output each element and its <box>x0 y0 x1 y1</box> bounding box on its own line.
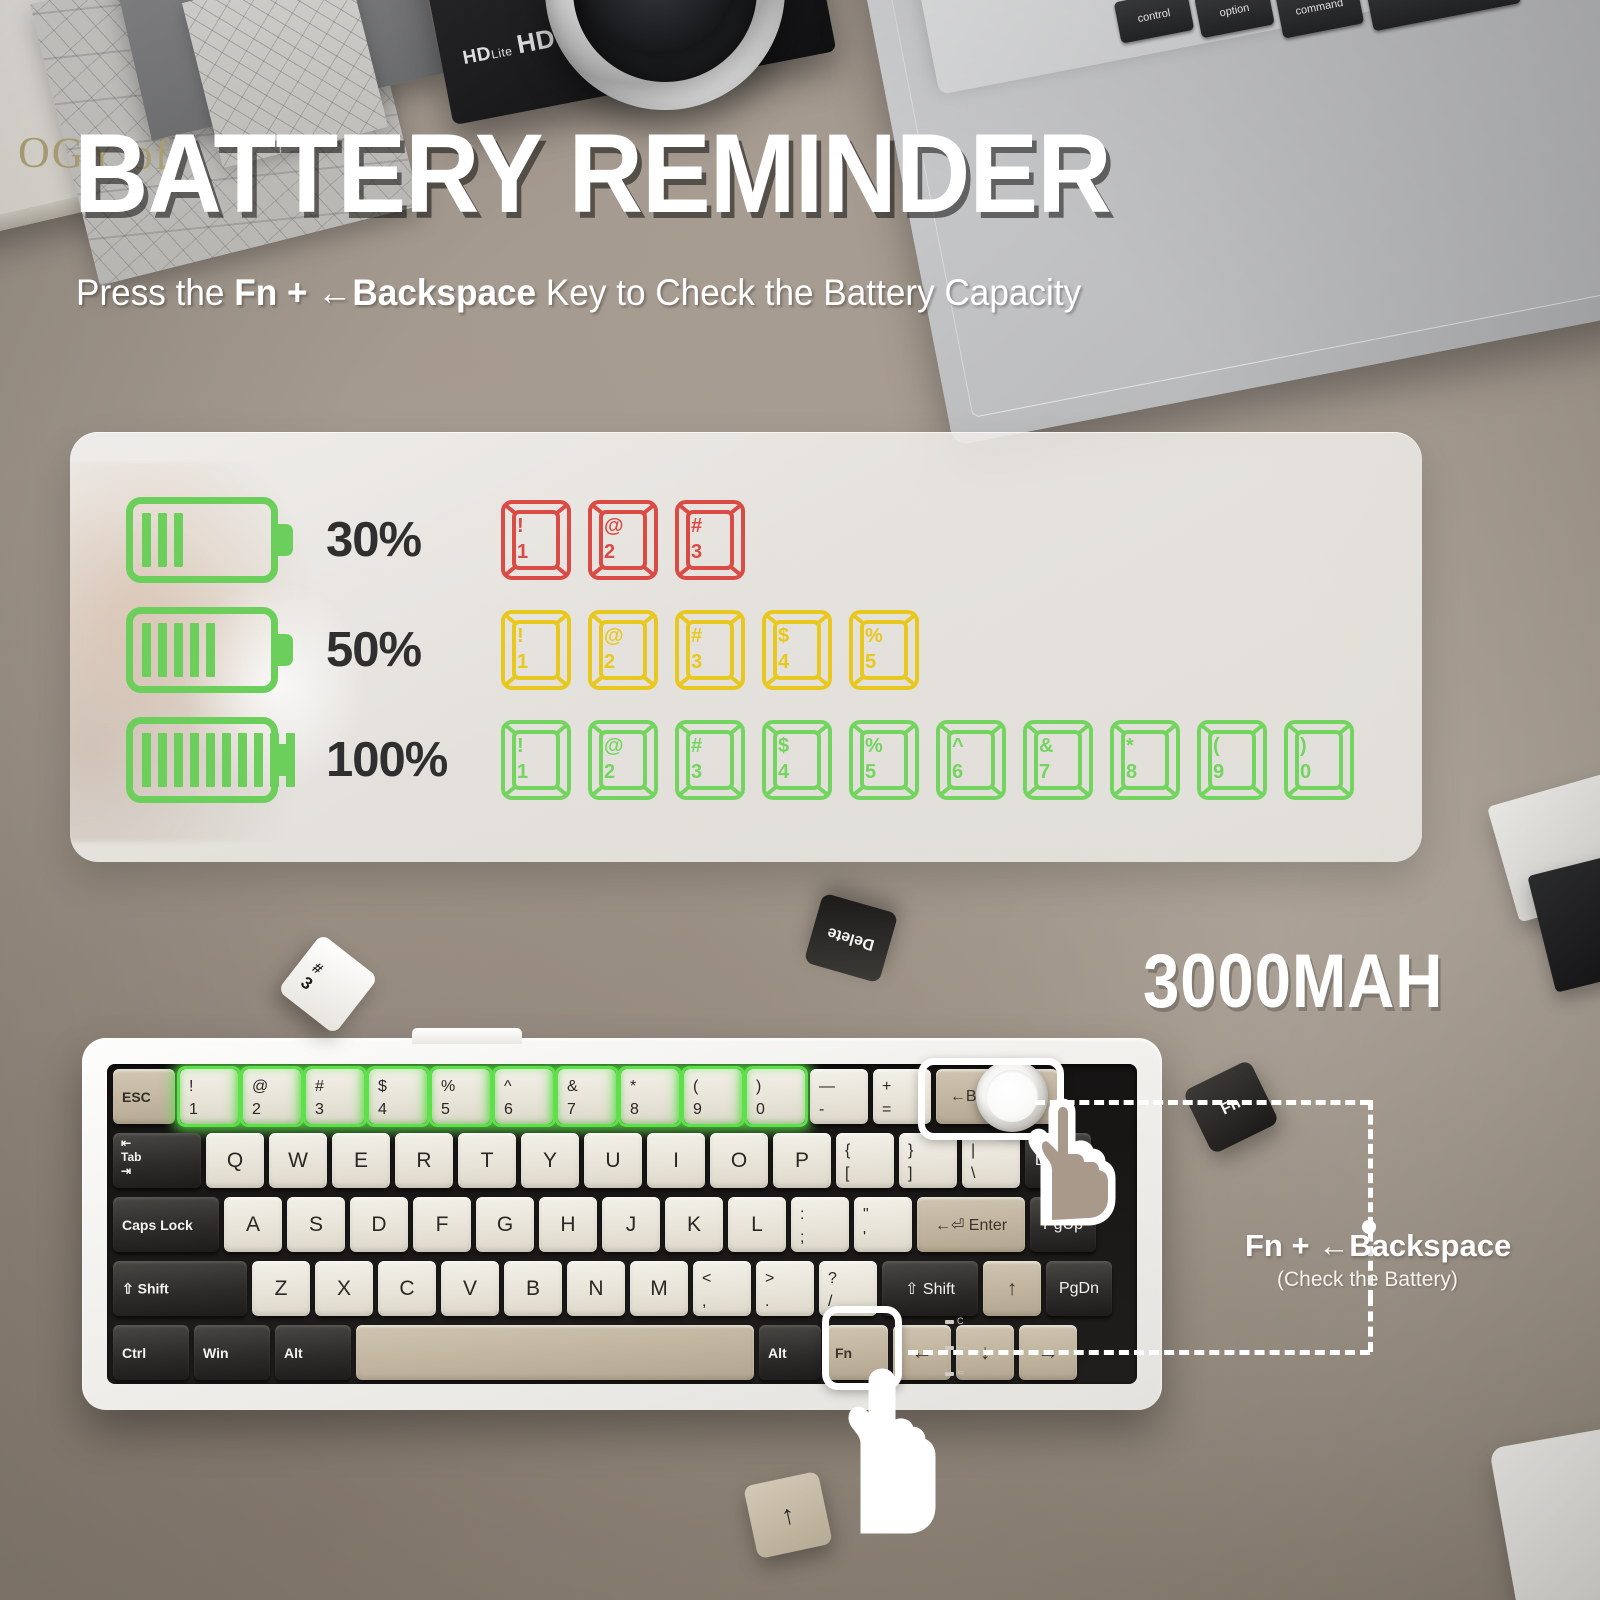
keyboard-row-qwerty-row: ⇤Tab⇥QWERTYUIOP { [ } ] | \Delete <box>107 1130 1137 1192</box>
legend-keycap-2: @ 2 <box>587 499 659 581</box>
battery-icon <box>126 497 306 583</box>
legend-keycap-5: % 5 <box>848 719 920 801</box>
key-shift[interactable]: ⇧ Shift <box>882 1261 978 1316</box>
key-z[interactable]: Z <box>252 1261 310 1316</box>
key-ctrl[interactable]: Ctrl <box>113 1325 189 1380</box>
legend-keycap-label: ! 1 <box>517 624 528 675</box>
key-spacebar[interactable]: " ' <box>854 1197 912 1252</box>
key-legend: J <box>602 1197 660 1252</box>
key-e[interactable]: E <box>332 1133 390 1188</box>
key-m[interactable]: M <box>630 1261 688 1316</box>
key-legend: T <box>458 1133 516 1188</box>
legend-keycap-3: # 3 <box>674 499 746 581</box>
legend-keycap-bottom: 3 <box>691 760 702 786</box>
key-legend: V <box>441 1261 499 1316</box>
battery-legend-panel: 30% ! 1 @ 2 # 3 <box>70 432 1422 862</box>
key-legend: Fn <box>835 1345 852 1361</box>
key-legend: ? / <box>828 1267 837 1313</box>
legend-keycap-top: ) <box>1300 734 1311 760</box>
key-legend: # 3 <box>315 1075 324 1121</box>
battery-outline <box>126 607 278 693</box>
key-legend: PgDn <box>1046 1261 1112 1316</box>
battery-bar <box>190 733 199 787</box>
key-pgdn[interactable]: PgDn <box>1046 1261 1112 1316</box>
key-legend: + = <box>882 1075 891 1121</box>
battery-bar <box>174 513 183 567</box>
legend-keycap-8: * 8 <box>1109 719 1181 801</box>
key-t[interactable]: T <box>458 1133 516 1188</box>
battery-legend-row: 100% ! 1 @ 2 # 3 <box>70 700 1422 820</box>
key-legend: | \ <box>971 1139 975 1185</box>
battery-bar <box>174 623 183 677</box>
key-alt[interactable]: Alt <box>275 1325 351 1380</box>
key-legend: E <box>332 1133 390 1188</box>
legend-keycap-top: # <box>691 734 702 760</box>
legend-keycap-bottom: 7 <box>1039 760 1053 786</box>
key-legend: ⇧ Shift <box>122 1280 169 1297</box>
key-tab[interactable]: ⇤Tab⇥ <box>113 1133 201 1188</box>
legend-keycap-4: $ 4 <box>761 719 833 801</box>
key-legend: ) 0 <box>756 1075 765 1121</box>
legend-keycap-top: @ <box>604 734 624 760</box>
key-legend-top: | <box>971 1139 975 1162</box>
key-legend: P <box>773 1133 831 1188</box>
battery-bar <box>206 623 215 677</box>
battery-percent-label: 100% <box>326 732 447 788</box>
key-g[interactable]: G <box>476 1197 534 1252</box>
legend-keycap-label: $ 4 <box>778 734 789 785</box>
legend-keycap-label: @ 2 <box>604 624 624 675</box>
legend-keycap-bottom: 1 <box>517 650 528 676</box>
legend-keycap-bottom: 6 <box>952 760 964 786</box>
key-legend: L <box>728 1197 786 1252</box>
key-9[interactable]: ( 9 <box>684 1069 742 1124</box>
key-legend-bottom: ' <box>863 1226 869 1249</box>
key-legend-bottom: 7 <box>567 1098 578 1121</box>
battery-fill-bars <box>142 513 183 567</box>
legend-keycap-top: @ <box>604 514 624 540</box>
keyboard-top-bump <box>412 1028 522 1044</box>
legend-keycap-label: @ 2 <box>604 734 624 785</box>
legend-keycap-top: % <box>865 624 883 650</box>
key-legend-top: + <box>882 1075 891 1098</box>
key-legend: ! 1 <box>189 1075 198 1121</box>
key-6[interactable]: ^ 6 <box>495 1069 553 1124</box>
legend-keycap-4: $ 4 <box>761 609 833 691</box>
battery-outline <box>126 497 278 583</box>
key-f[interactable]: F <box>413 1197 471 1252</box>
battery-icon <box>126 607 306 693</box>
key-legend-top: } <box>908 1139 913 1162</box>
key-spacebar[interactable]: ↑ <box>983 1261 1041 1316</box>
key-legend: S <box>287 1197 345 1252</box>
key-caps-lock[interactable]: Caps Lock <box>113 1197 219 1252</box>
battery-percent-label: 30% <box>326 512 421 568</box>
key-legend: W <box>269 1133 327 1188</box>
key-legend-bottom: 4 <box>378 1098 387 1121</box>
key-legend: I <box>647 1133 705 1188</box>
key-3[interactable]: # 3 <box>306 1069 364 1124</box>
key-k[interactable]: K <box>665 1197 723 1252</box>
legend-keycap-bottom: 5 <box>865 650 883 676</box>
legend-keycap-bottom: 4 <box>778 760 789 786</box>
key-1[interactable]: ! 1 <box>180 1069 238 1124</box>
key-legend: < , <box>702 1267 711 1313</box>
legend-keycap-label: ^ 6 <box>952 734 964 785</box>
floating-keycap-arrow-up: ↑ <box>743 1471 833 1559</box>
key-legend: Caps Lock <box>122 1217 193 1233</box>
key-legend: @ 2 <box>252 1075 268 1121</box>
legend-keycap-0: ) 0 <box>1283 719 1355 801</box>
legend-keycap-top: ! <box>517 734 528 760</box>
key-legend-bottom: 8 <box>630 1098 639 1121</box>
battery-bar <box>254 733 263 787</box>
key-legend-top: $ <box>378 1075 387 1098</box>
legend-keycap-top: # <box>691 624 702 650</box>
key-legend: — - <box>819 1075 835 1121</box>
battery-bar <box>206 733 215 787</box>
key-legend-top: ! <box>189 1075 198 1098</box>
hand-cursor-fn-icon <box>820 1366 940 1536</box>
battery-bar <box>142 733 151 787</box>
key-l[interactable]: L <box>728 1197 786 1252</box>
key-legend: ESC <box>122 1089 151 1105</box>
keyboard-row-bottom-letter-row: ⇧ ShiftZXCVBNM < , > . ? /⇧ Shift↑PgDn <box>107 1258 1137 1320</box>
key-legend: K <box>665 1197 723 1252</box>
key-legend: F <box>413 1197 471 1252</box>
key-legend-bottom: 3 <box>315 1098 324 1121</box>
capacity-badge: 3000MAH <box>1143 938 1443 1025</box>
key-5[interactable]: % 5 <box>432 1069 490 1124</box>
key-legend: Alt <box>768 1345 787 1361</box>
key-b[interactable]: B <box>504 1261 562 1316</box>
key-w[interactable]: W <box>269 1133 327 1188</box>
key-legend-bottom: 1 <box>189 1098 198 1121</box>
legend-keycap-3: # 3 <box>674 609 746 691</box>
battery-bar <box>142 623 151 677</box>
key-legend-bottom: . <box>765 1290 774 1313</box>
key-legend: G <box>476 1197 534 1252</box>
key-legend-top: " <box>863 1203 869 1226</box>
keyboard-row-home-row: Caps LockASDFGHJKL : ; " '←⏎ EnterPgUp <box>107 1194 1137 1256</box>
key-legend-bottom: 9 <box>693 1098 702 1121</box>
legend-keycap-2: @ 2 <box>587 609 659 691</box>
legend-keycap-9: ( 9 <box>1196 719 1268 801</box>
key-legend-bottom: / <box>828 1290 837 1313</box>
legend-keycap-label: @ 2 <box>604 514 624 565</box>
battery-level-keycaps: ! 1 @ 2 # 3 <box>500 609 920 691</box>
key-legend: R <box>395 1133 453 1188</box>
legend-keycap-bottom: 9 <box>1213 760 1224 786</box>
key-legend: : ; <box>800 1203 804 1249</box>
key-legend: ↑ <box>983 1261 1041 1316</box>
legend-keycap-top: $ <box>778 624 789 650</box>
battery-fill-bars <box>142 733 295 787</box>
battery-rows: 30% ! 1 @ 2 # 3 <box>70 432 1422 862</box>
legend-keycap-7: & 7 <box>1022 719 1094 801</box>
legend-keycap-label: # 3 <box>691 514 702 565</box>
key-spacebar[interactable]: } ] <box>899 1133 957 1188</box>
key-legend-bottom: = <box>882 1098 891 1121</box>
key-legend: ⇤Tab⇥ <box>121 1137 141 1178</box>
key-legend: H <box>539 1197 597 1252</box>
legend-keycap-bottom: 1 <box>517 760 528 786</box>
legend-keycap-bottom: 1 <box>517 540 528 566</box>
battery-terminal <box>277 634 293 666</box>
key-legend: ⇧ Shift <box>882 1261 978 1316</box>
callout-title: Fn + ←Backspace <box>1245 1228 1511 1264</box>
battery-level-keycaps: ! 1 @ 2 # 3 <box>500 499 746 581</box>
key-legend-top: ? <box>828 1267 837 1290</box>
legend-keycap-top: $ <box>778 734 789 760</box>
legend-keycap-bottom: 3 <box>691 650 702 676</box>
subtitle-prefix: Press the <box>76 272 234 313</box>
legend-keycap-label: & 7 <box>1039 734 1053 785</box>
key-legend: O <box>710 1133 768 1188</box>
legend-keycap-label: % 5 <box>865 624 883 675</box>
legend-keycap-top: # <box>691 514 702 540</box>
key-legend-bottom: ] <box>908 1162 913 1185</box>
key-spacebar[interactable]: — - <box>810 1069 868 1124</box>
legend-keycap-top: ( <box>1213 734 1224 760</box>
indicator-label-3: ᄃ <box>957 1368 965 1381</box>
key-legend: Z <box>252 1261 310 1316</box>
key-2[interactable]: @ 2 <box>243 1069 301 1124</box>
legend-keycap-label: % 5 <box>865 734 883 785</box>
dashed-line-backspace <box>1035 1100 1370 1105</box>
legend-keycap-top: ^ <box>952 734 964 760</box>
legend-keycap-top: * <box>1126 734 1137 760</box>
legend-keycap-top: ! <box>517 624 528 650</box>
legend-keycap-1: ! 1 <box>500 499 572 581</box>
battery-bar <box>142 513 151 567</box>
key-legend: U <box>584 1133 642 1188</box>
battery-fill-bars <box>142 623 215 677</box>
legend-keycap-bottom: 2 <box>604 760 624 786</box>
legend-keycap-bottom: 5 <box>865 760 883 786</box>
key-n[interactable]: N <box>567 1261 625 1316</box>
key-legend: > . <box>765 1267 774 1313</box>
key-4[interactable]: $ 4 <box>369 1069 427 1124</box>
key-spacebar[interactable]: > . <box>756 1261 814 1316</box>
key-7[interactable]: & 7 <box>558 1069 616 1124</box>
legend-keycap-label: # 3 <box>691 734 702 785</box>
page-subtitle: Press the Fn + ←Backspace Key to Check t… <box>76 272 1081 314</box>
legend-keycap-label: ! 1 <box>517 514 528 565</box>
key-p[interactable]: P <box>773 1133 831 1188</box>
key-legend: { [ <box>845 1139 850 1185</box>
key-legend: " ' <box>863 1203 869 1249</box>
key-legend: Y <box>521 1133 579 1188</box>
key-legend-bottom: 5 <box>441 1098 455 1121</box>
key-legend: & 7 <box>567 1075 578 1121</box>
key-legend: % 5 <box>441 1075 455 1121</box>
page-title: BATTERY REMINDER <box>74 118 1111 230</box>
key-legend: B <box>504 1261 562 1316</box>
key-legend: Alt <box>284 1345 303 1361</box>
key-v[interactable]: V <box>441 1261 499 1316</box>
key-legend-bottom: 6 <box>504 1098 513 1121</box>
key-legend-top: ^ <box>504 1075 513 1098</box>
legend-keycap-bottom: 2 <box>604 650 624 676</box>
key-spacebar[interactable]: + = <box>873 1069 931 1124</box>
key-a[interactable]: A <box>224 1197 282 1252</box>
legend-keycap-bottom: 3 <box>691 540 702 566</box>
dashed-line-right-lower <box>1368 1296 1373 1352</box>
legend-keycap-label: ) 0 <box>1300 734 1311 785</box>
key-spacebar[interactable]: { [ <box>836 1133 894 1188</box>
indicator-dash-1 <box>945 1320 954 1324</box>
legend-keycap-bottom: 8 <box>1126 760 1137 786</box>
key-legend: Q <box>206 1133 264 1188</box>
battery-bar <box>174 733 183 787</box>
key-legend-top: & <box>567 1075 578 1098</box>
legend-keycap-bottom: 0 <box>1300 760 1311 786</box>
key-u[interactable]: U <box>584 1133 642 1188</box>
key-spacebar[interactable]: ? / <box>819 1261 877 1316</box>
key-legend-top: : <box>800 1203 804 1226</box>
key-shift[interactable]: ⇧ Shift <box>113 1261 247 1316</box>
legend-keycap-3: # 3 <box>674 719 746 801</box>
key-r[interactable]: R <box>395 1133 453 1188</box>
key-legend-top: { <box>845 1139 850 1162</box>
battery-icon <box>126 717 306 803</box>
legend-keycap-label: $ 4 <box>778 624 789 675</box>
key-legend-bottom: [ <box>845 1162 850 1185</box>
legend-keycap-top: ! <box>517 514 528 540</box>
battery-percent-label: 50% <box>326 622 421 678</box>
key-legend: $ 4 <box>378 1075 387 1121</box>
legend-keycap-1: ! 1 <box>500 609 572 691</box>
battery-bar <box>222 733 231 787</box>
key-o[interactable]: O <box>710 1133 768 1188</box>
battery-bar <box>158 513 167 567</box>
key-x[interactable]: X <box>315 1261 373 1316</box>
dashed-line-fn <box>908 1350 1370 1355</box>
key-legend: C <box>378 1261 436 1316</box>
key-legend-top: % <box>441 1075 455 1098</box>
key-j[interactable]: J <box>602 1197 660 1252</box>
battery-terminal <box>277 524 293 556</box>
key-h[interactable]: H <box>539 1197 597 1252</box>
key-c[interactable]: C <box>378 1261 436 1316</box>
key-legend-bottom: , <box>702 1290 711 1313</box>
key-legend-bottom: 0 <box>756 1098 765 1121</box>
key-legend-bottom: - <box>819 1098 835 1121</box>
key-legend: ^ 6 <box>504 1075 513 1121</box>
battery-bar <box>158 733 167 787</box>
key-legend-bottom: 2 <box>252 1098 268 1121</box>
key-y[interactable]: Y <box>521 1133 579 1188</box>
key-8[interactable]: * 8 <box>621 1069 679 1124</box>
legend-keycap-label: # 3 <box>691 624 702 675</box>
subtitle-suffix: Key to Check the Battery Capacity <box>536 272 1081 313</box>
key-win[interactable]: Win <box>194 1325 270 1380</box>
indicator-dash-3 <box>945 1372 954 1376</box>
legend-keycap-1: ! 1 <box>500 719 572 801</box>
key-legend-bottom: ; <box>800 1226 804 1249</box>
key-legend: X <box>315 1261 373 1316</box>
key-legend: * 8 <box>630 1075 639 1121</box>
floating-keycap-3-bottom: 3 <box>297 973 317 995</box>
key-legend-top: ( <box>693 1075 702 1098</box>
infographic-canvas: nor of ders tors OGY of HDLite HD contro… <box>0 0 1600 1600</box>
legend-keycap-6: ^ 6 <box>935 719 1007 801</box>
key-spacebar[interactable]: : ; <box>791 1197 849 1252</box>
key-space[interactable] <box>356 1325 754 1380</box>
battery-bar <box>158 623 167 677</box>
key-spacebar[interactable]: < , <box>693 1261 751 1316</box>
legend-keycap-5: % 5 <box>848 609 920 691</box>
legend-keycap-label: ! 1 <box>517 734 528 785</box>
key-legend: A <box>224 1197 282 1252</box>
callout-subtitle: (Check the Battery) <box>1277 1268 1458 1292</box>
battery-terminal <box>277 744 293 776</box>
key-d[interactable]: D <box>350 1197 408 1252</box>
key-s[interactable]: S <box>287 1197 345 1252</box>
legend-keycap-top: % <box>865 734 883 760</box>
key-legend-top: — <box>819 1075 835 1098</box>
key-legend: } ] <box>908 1139 913 1185</box>
key-legend-top: > <box>765 1267 774 1290</box>
key-esc[interactable]: ESC <box>113 1069 175 1124</box>
legend-keycap-bottom: 2 <box>604 540 624 566</box>
legend-keycap-label: ( 9 <box>1213 734 1224 785</box>
key-legend: ( 9 <box>693 1075 702 1121</box>
subtitle-shortcut: Fn + ←Backspace <box>234 272 536 313</box>
key-legend-top: * <box>630 1075 639 1098</box>
key-legend: Ctrl <box>122 1345 146 1361</box>
key-legend: Win <box>203 1345 229 1361</box>
indicator-label-1: C <box>957 1316 964 1326</box>
legend-keycap-top: @ <box>604 624 624 650</box>
legend-keycap-2: @ 2 <box>587 719 659 801</box>
key-0[interactable]: ) 0 <box>747 1069 805 1124</box>
key-legend-top: @ <box>252 1075 268 1098</box>
key-q[interactable]: Q <box>206 1133 264 1188</box>
battery-bar <box>238 733 247 787</box>
battery-outline <box>126 717 278 803</box>
battery-legend-row: 50% ! 1 @ 2 # 3 <box>70 590 1422 710</box>
key-legend: D <box>350 1197 408 1252</box>
battery-legend-row: 30% ! 1 @ 2 # 3 <box>70 480 1422 600</box>
legend-keycap-label: * 8 <box>1126 734 1137 785</box>
battery-bar <box>190 623 199 677</box>
key-legend-top: ) <box>756 1075 765 1098</box>
key-legend-top: # <box>315 1075 324 1098</box>
key-i[interactable]: I <box>647 1133 705 1188</box>
key-alt[interactable]: Alt <box>759 1325 821 1380</box>
battery-level-keycaps: ! 1 @ 2 # 3 <box>500 719 1355 801</box>
legend-keycap-bottom: 4 <box>778 650 789 676</box>
key-legend: N <box>567 1261 625 1316</box>
key-legend <box>356 1325 754 1380</box>
key-legend: M <box>630 1261 688 1316</box>
legend-keycap-top: & <box>1039 734 1053 760</box>
hand-cursor-backspace-icon <box>1000 1098 1120 1228</box>
key-legend-bottom: \ <box>971 1162 975 1185</box>
key-legend-top: < <box>702 1267 711 1290</box>
